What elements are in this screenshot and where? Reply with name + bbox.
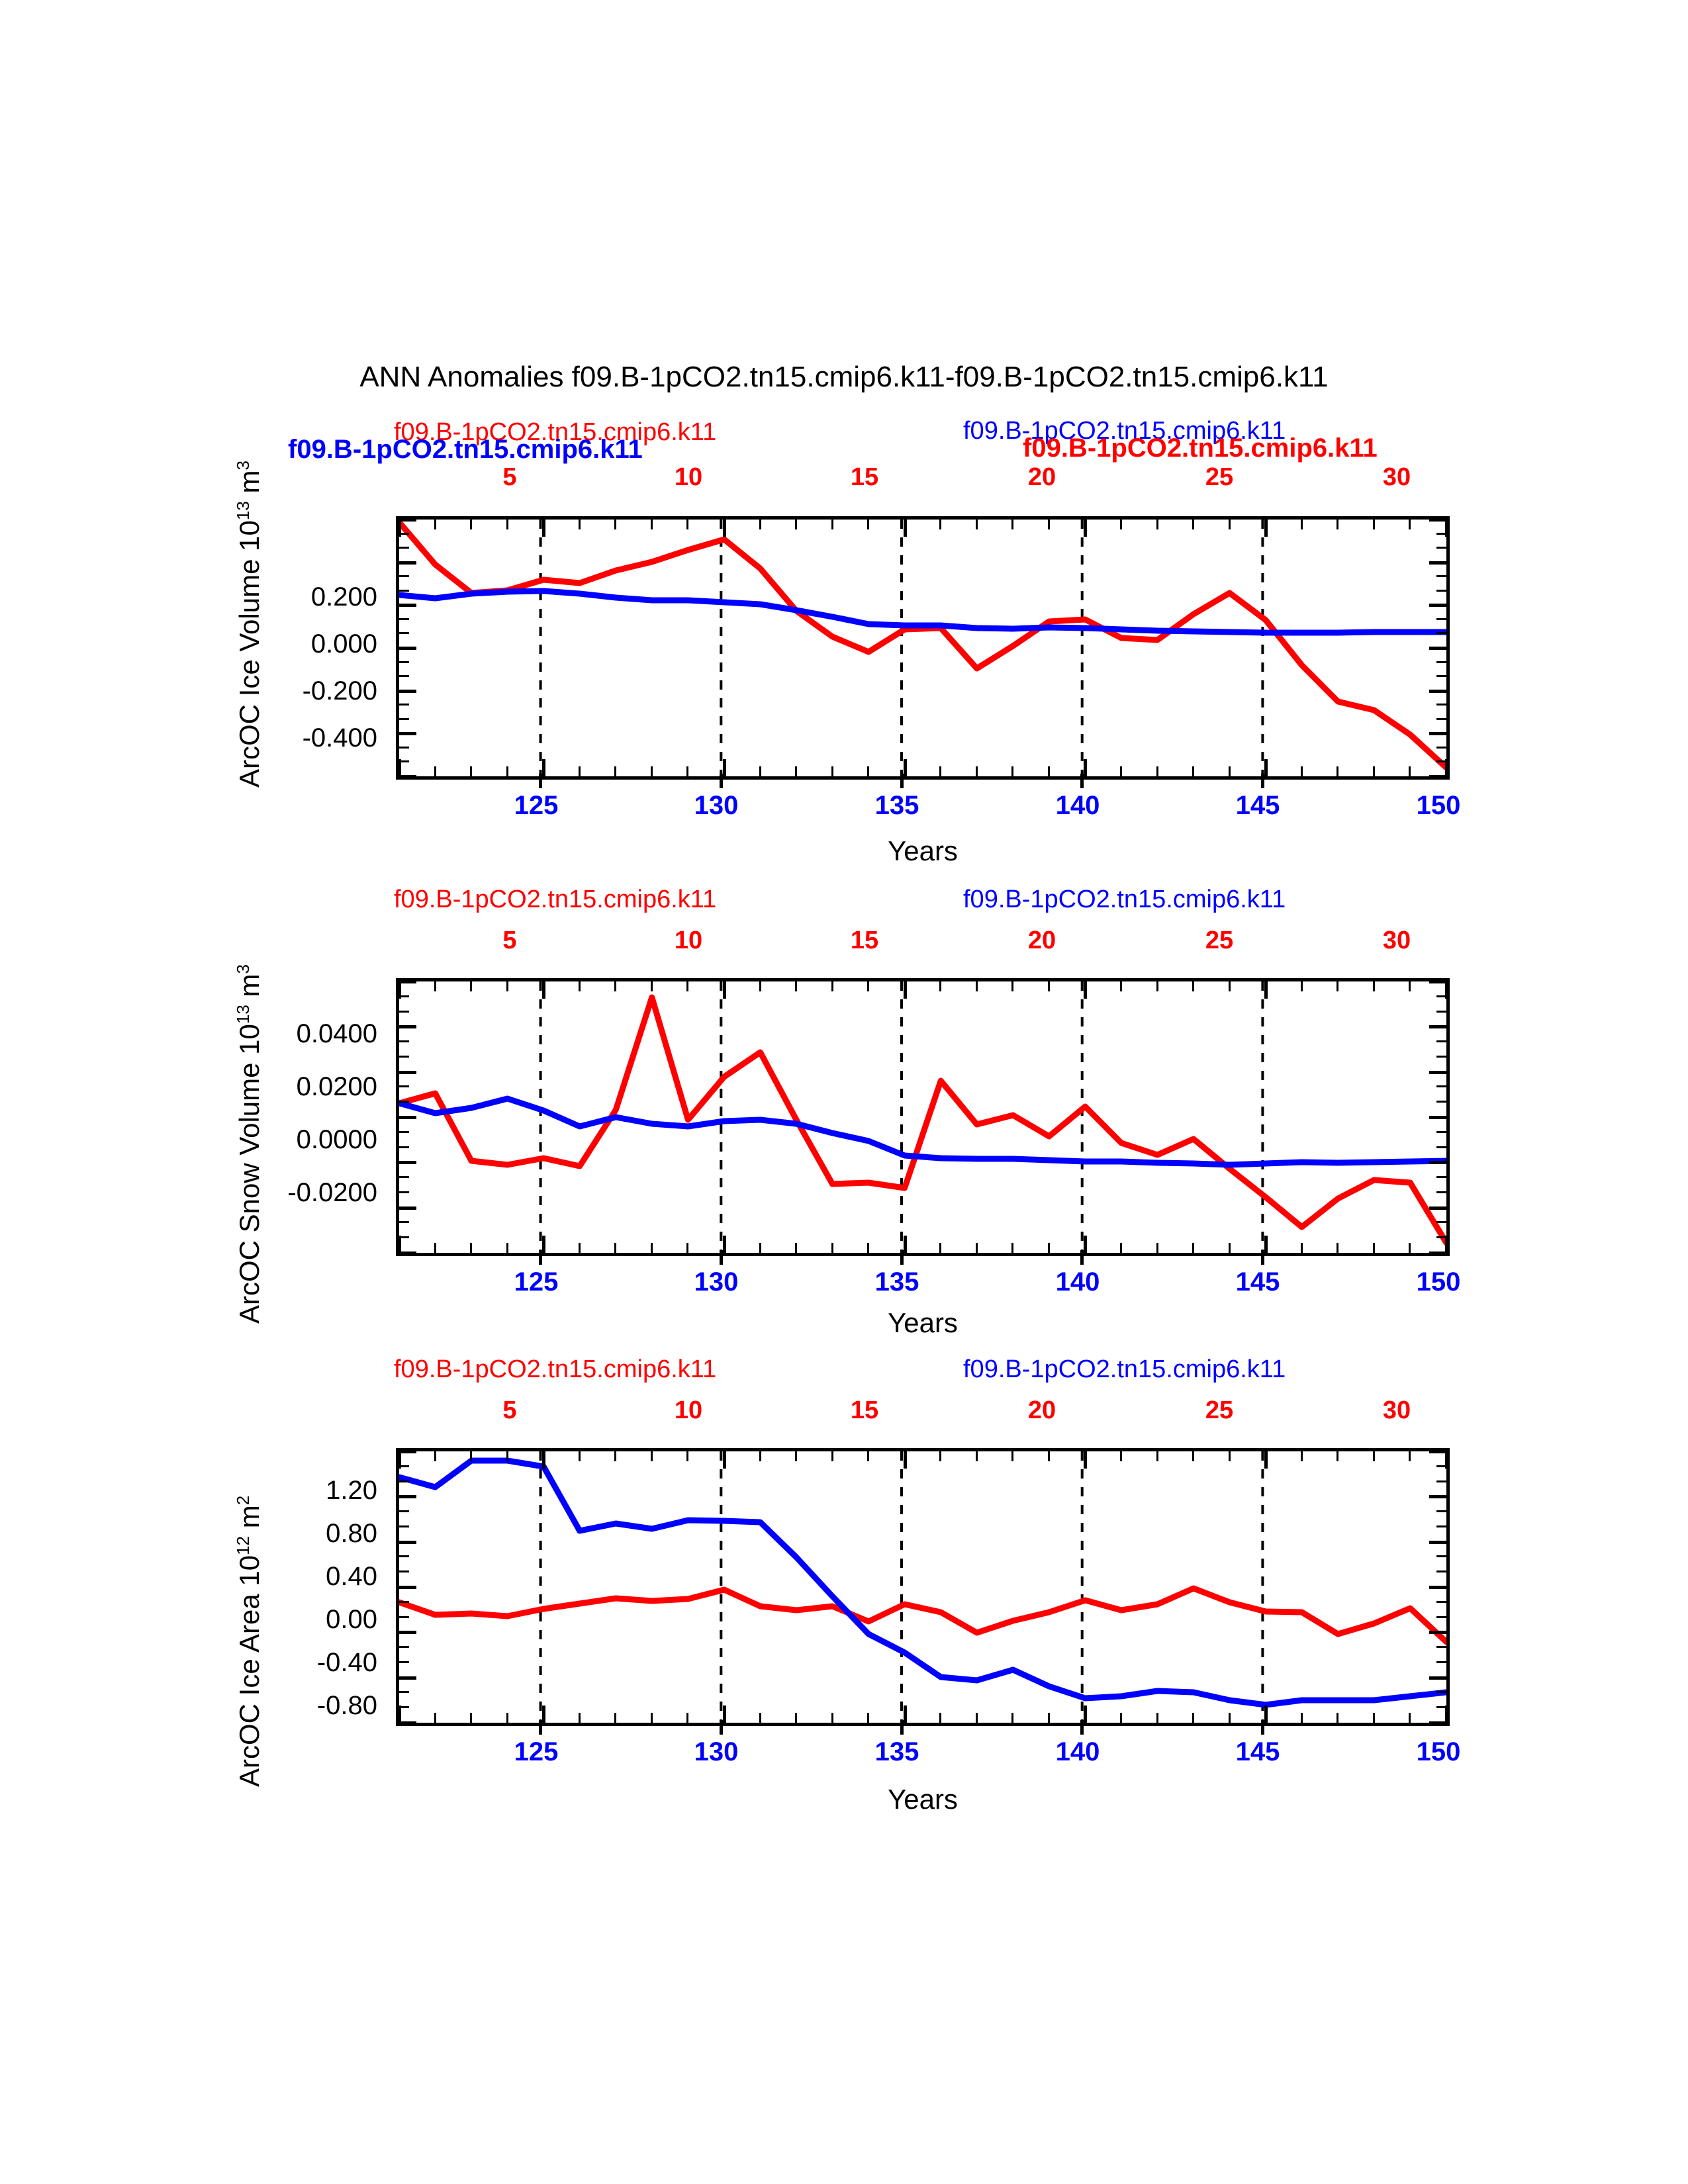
tick-minor-x xyxy=(795,981,797,991)
tick-minor-x xyxy=(1084,1706,1087,1723)
figure-canvas: ANN Anomalies f09.B-1pCO2.tn15.cmip6.k11… xyxy=(0,0,1688,2184)
tick-minor-x xyxy=(795,1713,797,1723)
tick-minor-x xyxy=(1084,759,1087,776)
tick-minor-y xyxy=(1436,1221,1446,1223)
tick-minor-y xyxy=(1429,980,1446,983)
tick-minor-y xyxy=(1436,704,1446,705)
tick-minor-x xyxy=(470,520,472,529)
tick-minor-y xyxy=(1429,561,1446,565)
tick-minor-y xyxy=(399,1465,409,1467)
tick-minor-x xyxy=(759,766,761,776)
panel2-gridlines xyxy=(541,981,1263,1253)
tick-minor-y xyxy=(1436,1085,1446,1087)
tick-minor-x xyxy=(1373,1243,1375,1253)
tick-minor-x xyxy=(1409,1713,1411,1723)
tick-minor-y xyxy=(399,618,409,620)
tick-minor-y xyxy=(399,575,409,577)
panel1-xtick-bottom-4: 145 xyxy=(1205,791,1311,821)
tick-minor-y xyxy=(399,718,409,720)
panel3-xtick-top-4: 25 xyxy=(1193,1396,1246,1425)
tick-minor-y xyxy=(399,1676,416,1680)
panel3-xtick-bottom-5: 150 xyxy=(1385,1737,1491,1767)
tick-minor-x xyxy=(976,1713,978,1723)
panel3-legend-red-left: f09.B-1pCO2.tn15.cmip6.k11 xyxy=(394,1355,716,1384)
tick-minor-x xyxy=(651,520,653,529)
tick-minor-y xyxy=(399,1510,409,1512)
tick-minor-y xyxy=(399,1101,409,1103)
panel2-x-axis-title: Years xyxy=(817,1307,1029,1339)
tick-minor-y xyxy=(1436,1191,1446,1193)
tick-minor-x xyxy=(506,981,508,991)
tick-minor-y xyxy=(1429,1495,1446,1498)
tick-minor-x xyxy=(1264,1706,1268,1723)
tick-minor-y xyxy=(399,647,416,650)
tick-minor-y xyxy=(1436,1691,1446,1693)
tick-minor-y xyxy=(1436,747,1446,749)
tick-minor-y xyxy=(399,775,416,778)
tick-minor-y xyxy=(1436,995,1446,997)
tick-minor-x xyxy=(1301,981,1303,991)
tick-minor-x xyxy=(831,766,833,776)
tick-minor-y xyxy=(399,747,409,749)
panel1-xtick-top-1: 10 xyxy=(662,463,715,492)
tick-minor-x xyxy=(976,766,978,776)
tick-minor-x xyxy=(470,766,472,776)
tick-minor-x xyxy=(1336,1713,1338,1723)
tick-minor-x xyxy=(1373,766,1375,776)
tick-minor-y xyxy=(399,661,409,663)
tick-minor-x xyxy=(1120,1713,1122,1723)
tick-minor-x xyxy=(831,981,833,991)
panel3-ytick-2: 0.40 xyxy=(252,1562,377,1592)
tick-minor-x xyxy=(1120,1451,1122,1461)
tick-minor-x xyxy=(542,759,545,776)
tick-minor-y xyxy=(399,1176,409,1178)
tick-minor-x xyxy=(1156,1451,1158,1461)
tick-minor-x xyxy=(904,520,907,537)
tick-minor-y xyxy=(399,1056,409,1058)
tick-minor-x xyxy=(614,981,616,991)
tick-minor-y xyxy=(399,590,409,592)
panel3-xtick-top-5: 30 xyxy=(1370,1396,1423,1425)
tick-minor-x xyxy=(867,981,869,991)
tick-minor-y xyxy=(1436,1480,1446,1482)
panel2-legend-blue-right: f09.B-1pCO2.tn15.cmip6.k11 xyxy=(963,886,1286,914)
tick-minor-x xyxy=(904,1451,907,1469)
tick-minor-x xyxy=(1120,1243,1122,1253)
panel2-xtick-bottom-3: 140 xyxy=(1025,1267,1131,1297)
panel1-series-blue xyxy=(399,591,1446,633)
tick-minor-y xyxy=(1429,518,1446,522)
tick-minor-x xyxy=(686,981,688,991)
tick-minor-x xyxy=(1229,1713,1231,1723)
tick-minor-x xyxy=(686,766,688,776)
tick-minor-x xyxy=(1120,766,1122,776)
tick-minor-y xyxy=(399,1025,416,1028)
tick-minor-x xyxy=(579,520,581,529)
tick-minor-x xyxy=(1409,981,1411,991)
tick-minor-y xyxy=(399,1691,409,1693)
panel3-svg xyxy=(399,1451,1446,1723)
tick-minor-x xyxy=(1373,981,1375,991)
tick-minor-x xyxy=(867,1713,869,1723)
tick-minor-y xyxy=(1429,1161,1446,1164)
tick-minor-x xyxy=(614,520,616,529)
panel3-series-red xyxy=(399,1588,1446,1642)
tick-minor-y xyxy=(1436,632,1446,634)
panel2-xtick-top-1: 10 xyxy=(662,927,715,955)
tick-minor-y xyxy=(399,1236,409,1238)
tick-minor-y xyxy=(1436,1056,1446,1058)
tick-minor-y xyxy=(399,1116,416,1119)
tick-minor-x xyxy=(1192,981,1194,991)
tick-minor-x xyxy=(1192,520,1194,529)
tick-minor-x xyxy=(1336,766,1338,776)
tick-minor-x xyxy=(723,520,726,537)
panel3-y-title-unit-exp: 2 xyxy=(233,1496,253,1505)
tick-minor-y xyxy=(1436,675,1446,677)
tick-minor-x xyxy=(1409,1243,1411,1253)
tick-minor-x xyxy=(1301,1713,1303,1723)
panel3-ytick-1: 0.80 xyxy=(252,1519,377,1549)
tick-minor-x xyxy=(904,981,907,999)
tick-minor-x xyxy=(1229,520,1231,529)
tick-minor-x xyxy=(542,1236,545,1253)
tick-minor-y xyxy=(1429,1251,1446,1255)
tick-minor-x xyxy=(651,1713,653,1723)
panel2-ytick-2: 0.0000 xyxy=(225,1125,377,1155)
tick-minor-x xyxy=(831,1713,833,1723)
tick-minor-y xyxy=(1429,1676,1446,1680)
tick-minor-x xyxy=(759,981,761,991)
tick-minor-x xyxy=(470,1243,472,1253)
tick-minor-y xyxy=(399,533,409,535)
panel2-xtick-bottom-2: 135 xyxy=(844,1267,950,1297)
panel2-xtick-top-5: 30 xyxy=(1370,927,1423,955)
tick-minor-x xyxy=(579,981,581,991)
panel2-ytick-1: 0.0200 xyxy=(225,1072,377,1102)
tick-minor-x xyxy=(1301,766,1303,776)
tick-minor-y xyxy=(399,760,409,762)
tick-minor-x xyxy=(542,1706,545,1723)
tick-minor-y xyxy=(399,518,416,522)
tick-minor-y xyxy=(1436,1661,1446,1663)
panel1-ytick-0: 0.200 xyxy=(252,582,377,612)
tick-minor-y xyxy=(399,1661,409,1663)
panel2-plot-area xyxy=(396,978,1450,1256)
tick-minor-y xyxy=(1429,1721,1446,1725)
panel3-xtick-top-3: 20 xyxy=(1015,1396,1068,1425)
tick-minor-x xyxy=(542,1451,545,1469)
tick-minor-y xyxy=(1436,1525,1446,1527)
tick-minor-y xyxy=(399,1541,416,1544)
tick-minor-x xyxy=(1011,1713,1013,1723)
tick-minor-x xyxy=(434,1713,436,1723)
tick-minor-y xyxy=(399,1221,409,1223)
tick-minor-y xyxy=(1436,1011,1446,1013)
tick-minor-x xyxy=(506,1713,508,1723)
tick-minor-y xyxy=(1436,1131,1446,1133)
tick-minor-x xyxy=(1011,981,1013,991)
tick-minor-x xyxy=(1048,1243,1050,1253)
tick-minor-x xyxy=(1264,520,1268,537)
tick-minor-x xyxy=(434,766,436,776)
tick-minor-y xyxy=(399,1616,409,1618)
tick-minor-x xyxy=(723,1451,726,1469)
tick-minor-y xyxy=(399,1480,409,1482)
panel2-xtick-bottom-1: 130 xyxy=(663,1267,769,1297)
panel2-y-title-unit: m xyxy=(234,974,265,1005)
panel2-xtick-top-0: 5 xyxy=(483,927,536,955)
tick-minor-x xyxy=(939,1713,941,1723)
tick-minor-y xyxy=(399,732,416,735)
tick-minor-y xyxy=(1429,1206,1446,1210)
panel2-ytick-0: 0.0400 xyxy=(225,1019,377,1049)
tick-minor-x xyxy=(904,1236,907,1253)
tick-minor-x xyxy=(1373,1713,1375,1723)
tick-minor-y xyxy=(399,1631,416,1634)
tick-minor-x xyxy=(579,766,581,776)
panel3-xtick-top-2: 15 xyxy=(838,1396,891,1425)
tick-minor-y xyxy=(1429,647,1446,650)
tick-minor-x xyxy=(579,1243,581,1253)
tick-minor-y xyxy=(399,632,409,634)
tick-minor-y xyxy=(399,547,409,549)
tick-minor-x xyxy=(1192,1713,1194,1723)
tick-minor-x xyxy=(1229,1243,1231,1253)
tick-minor-y xyxy=(1429,1071,1446,1074)
tick-minor-x xyxy=(759,520,761,529)
tick-minor-y xyxy=(399,690,416,693)
tick-minor-x xyxy=(1409,1451,1411,1461)
tick-minor-x xyxy=(1264,1451,1268,1469)
panel3-plot-area xyxy=(396,1448,1450,1726)
tick-minor-x xyxy=(686,520,688,529)
tick-minor-x xyxy=(470,981,472,991)
tick-minor-x xyxy=(831,1451,833,1461)
tick-minor-y xyxy=(399,1040,409,1042)
tick-minor-y xyxy=(1429,1116,1446,1119)
panel3-xtick-bottom-1: 130 xyxy=(663,1737,769,1767)
tick-minor-x xyxy=(976,520,978,529)
tick-minor-x xyxy=(1011,1243,1013,1253)
panel3-xtick-bottom-0: 125 xyxy=(483,1737,589,1767)
tick-minor-x xyxy=(1048,1713,1050,1723)
panel2-series-red xyxy=(399,997,1446,1243)
tick-minor-x xyxy=(1084,981,1087,999)
tick-minor-y xyxy=(399,1191,409,1193)
tick-minor-y xyxy=(399,1206,416,1210)
tick-minor-y xyxy=(399,675,409,677)
panel2-xtick-top-3: 20 xyxy=(1015,927,1068,955)
tick-minor-x xyxy=(614,1451,616,1461)
tick-minor-x xyxy=(1336,981,1338,991)
panel3-xtick-top-0: 5 xyxy=(483,1396,536,1425)
panel1-x-axis-title: Years xyxy=(817,835,1029,867)
panel1-xtick-top-2: 15 xyxy=(838,463,891,492)
tick-minor-y xyxy=(1429,732,1446,735)
tick-minor-x xyxy=(1192,1451,1194,1461)
tick-minor-y xyxy=(399,1525,409,1527)
tick-minor-x xyxy=(579,1451,581,1461)
tick-minor-x xyxy=(1409,766,1411,776)
tick-minor-x xyxy=(614,1713,616,1723)
tick-minor-x xyxy=(1156,766,1158,776)
panel1-xtick-bottom-2: 135 xyxy=(844,791,950,821)
tick-minor-x xyxy=(470,1451,472,1461)
tick-minor-x xyxy=(795,1243,797,1253)
panel1-xtick-bottom-3: 140 xyxy=(1025,791,1131,821)
panel3-series-blue xyxy=(399,1461,1446,1705)
tick-minor-y xyxy=(399,980,416,983)
tick-minor-x xyxy=(1336,1243,1338,1253)
tick-minor-y xyxy=(399,1251,416,1255)
panel1-y-title-unit: m xyxy=(234,471,265,502)
tick-minor-x xyxy=(1409,520,1411,529)
tick-minor-x xyxy=(723,1236,726,1253)
tick-minor-x xyxy=(1192,766,1194,776)
panel1-svg xyxy=(399,520,1446,776)
tick-minor-x xyxy=(1084,1236,1087,1253)
panel3-xtick-top-1: 10 xyxy=(662,1396,715,1425)
tick-minor-x xyxy=(651,981,653,991)
tick-minor-y xyxy=(1429,1450,1446,1453)
tick-minor-x xyxy=(831,520,833,529)
panel1-y-title-exp: 13 xyxy=(233,501,253,520)
tick-minor-y xyxy=(399,1131,409,1133)
panel2-xtick-top-4: 25 xyxy=(1193,927,1246,955)
tick-minor-x xyxy=(1156,981,1158,991)
tick-minor-x xyxy=(1301,1243,1303,1253)
tick-minor-x xyxy=(1048,766,1050,776)
tick-minor-y xyxy=(1429,1025,1446,1028)
tick-minor-x xyxy=(470,1713,472,1723)
tick-minor-x xyxy=(939,1243,941,1253)
tick-minor-x xyxy=(614,766,616,776)
tick-minor-y xyxy=(399,1495,416,1498)
tick-minor-y xyxy=(1436,1146,1446,1148)
panel1-y-title-unit-exp: 3 xyxy=(233,461,253,470)
tick-minor-x xyxy=(867,520,869,529)
tick-minor-y xyxy=(1436,533,1446,535)
tick-minor-y xyxy=(1436,760,1446,762)
tick-minor-x xyxy=(1156,1243,1158,1253)
panel1-plot-area xyxy=(396,516,1450,780)
tick-minor-x xyxy=(1011,520,1013,529)
tick-minor-x xyxy=(651,1451,653,1461)
panel1-xtick-major-3 xyxy=(1080,774,1084,788)
panel1-xtick-top-5: 30 xyxy=(1370,463,1423,492)
tick-minor-y xyxy=(399,561,416,565)
tick-minor-x xyxy=(1011,766,1013,776)
tick-minor-y xyxy=(1429,1586,1446,1589)
tick-minor-x xyxy=(795,766,797,776)
tick-minor-x xyxy=(976,981,978,991)
tick-minor-y xyxy=(399,1601,409,1603)
tick-minor-x xyxy=(1084,1451,1087,1469)
panel2-y-title-text: ArcOC Snow Volume 10 xyxy=(234,1024,265,1324)
tick-minor-x xyxy=(795,1451,797,1461)
panel2-xtick-bottom-0: 125 xyxy=(483,1267,589,1297)
tick-minor-x xyxy=(1373,520,1375,529)
tick-minor-y xyxy=(1436,1465,1446,1467)
tick-minor-y xyxy=(399,704,409,705)
tick-minor-x xyxy=(1229,1451,1231,1461)
panel1-xtick-bottom-5: 150 xyxy=(1385,791,1491,821)
tick-minor-y xyxy=(399,1706,409,1708)
panel1-xtick-top-3: 20 xyxy=(1015,463,1068,492)
panel1-ytick-3: -0.400 xyxy=(252,723,377,753)
tick-minor-x xyxy=(579,1713,581,1723)
panel3-ytick-5: -0.80 xyxy=(252,1691,377,1721)
tick-minor-x xyxy=(1301,1451,1303,1461)
panel3-x-axis-title: Years xyxy=(817,1784,1029,1815)
tick-minor-x xyxy=(976,1243,978,1253)
tick-minor-y xyxy=(1436,1570,1446,1572)
tick-minor-y xyxy=(1436,1510,1446,1512)
tick-minor-x xyxy=(686,1243,688,1253)
panel3-y-title-exp: 12 xyxy=(233,1536,253,1555)
tick-minor-x xyxy=(434,981,436,991)
tick-minor-y xyxy=(399,1570,409,1572)
tick-minor-x xyxy=(506,520,508,529)
tick-minor-y xyxy=(1429,690,1446,693)
tick-minor-x xyxy=(723,1706,726,1723)
tick-minor-x xyxy=(506,1243,508,1253)
tick-minor-y xyxy=(399,1646,409,1648)
tick-minor-y xyxy=(1436,1616,1446,1618)
tick-minor-x xyxy=(904,1706,907,1723)
panel2-xtick-bottom-5: 150 xyxy=(1385,1267,1491,1297)
tick-minor-x xyxy=(614,1243,616,1253)
tick-minor-y xyxy=(399,1146,409,1148)
panel3-ytick-4: -0.40 xyxy=(252,1648,377,1678)
tick-minor-y xyxy=(399,995,409,997)
tick-minor-x xyxy=(1264,1236,1268,1253)
panel2-xtick-bottom-4: 145 xyxy=(1205,1267,1311,1297)
tick-minor-x xyxy=(795,520,797,529)
tick-minor-x xyxy=(1264,759,1268,776)
panel1-xtick-top-4: 25 xyxy=(1193,463,1246,492)
tick-minor-x xyxy=(831,1243,833,1253)
panel1-legend-red-right: f09.B-1pCO2.tn15.cmip6.k11 xyxy=(1023,433,1378,463)
panel3-xtick-bottom-4: 145 xyxy=(1205,1737,1311,1767)
panel1-xtick-top-0: 5 xyxy=(483,463,536,492)
tick-minor-x xyxy=(904,759,907,776)
tick-minor-x xyxy=(686,1713,688,1723)
tick-minor-y xyxy=(399,1721,416,1725)
tick-minor-x xyxy=(1192,1243,1194,1253)
tick-minor-x xyxy=(651,766,653,776)
tick-minor-x xyxy=(759,1243,761,1253)
tick-minor-y xyxy=(1436,1706,1446,1708)
tick-minor-x xyxy=(1156,520,1158,529)
tick-minor-y xyxy=(1436,661,1446,663)
panel2-svg xyxy=(399,981,1446,1253)
tick-minor-x xyxy=(651,1243,653,1253)
tick-minor-x xyxy=(1048,520,1050,529)
tick-minor-x xyxy=(1048,981,1050,991)
panel1-legend-blue-left: f09.B-1pCO2.tn15.cmip6.k11 xyxy=(288,435,643,465)
tick-minor-x xyxy=(506,766,508,776)
figure-title: ANN Anomalies f09.B-1pCO2.tn15.cmip6.k11… xyxy=(0,361,1688,394)
tick-minor-x xyxy=(723,759,726,776)
tick-minor-y xyxy=(1436,1236,1446,1238)
panel3-gridlines xyxy=(541,1451,1263,1723)
tick-minor-x xyxy=(1120,981,1122,991)
panel3-xtick-bottom-2: 135 xyxy=(844,1737,950,1767)
panel1-ytick-1: 0.000 xyxy=(252,629,377,659)
